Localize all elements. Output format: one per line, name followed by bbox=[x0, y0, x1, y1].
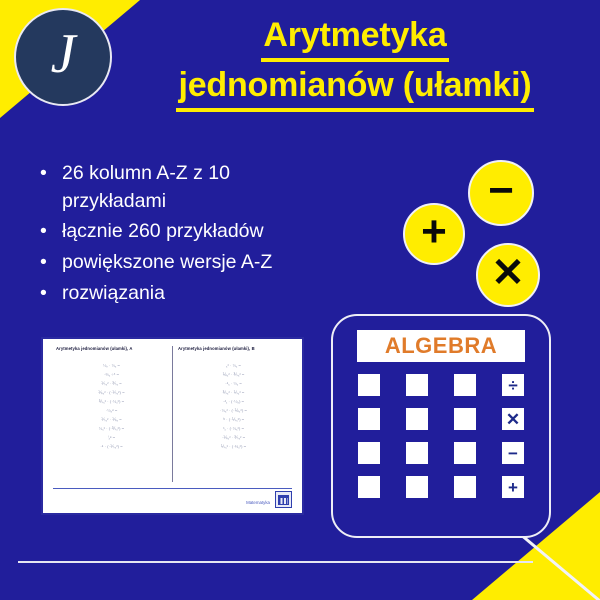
worksheet-line: ⅓ₓ³ · (·⅗ₐ²) = bbox=[56, 425, 167, 434]
list-item-label: rozwiązania bbox=[62, 282, 165, 304]
worksheet-line: ·½ₓ⁴ = bbox=[56, 407, 167, 416]
worksheet-line: ⁱₓ⁴ = bbox=[56, 434, 167, 443]
calculator-key-blank bbox=[454, 408, 476, 430]
page-title: Arytmetyka jednomianów (ułamki) bbox=[120, 14, 590, 112]
calculator-icon bbox=[275, 491, 292, 508]
feature-list: • 26 kolumn A-Z z 10 przykładami • łączn… bbox=[34, 160, 334, 310]
worksheet-line: ⁶ₐ · (·⅓ₓ³) = bbox=[178, 425, 289, 434]
list-item-label: łącznie 260 przykładów bbox=[62, 220, 264, 242]
bottom-horizontal-rule bbox=[18, 561, 533, 563]
multiply-icon: ✕ bbox=[476, 243, 540, 307]
calculator-illustration: ALGEBRA ÷ ✕ − + bbox=[331, 314, 551, 538]
list-item-label: 26 kolumn A-Z z 10 przykładami bbox=[62, 162, 230, 212]
worksheet-column-a: Arytmetyka jednomianów (ułamki), A ½ₑ · … bbox=[51, 346, 172, 482]
worksheet-column-b: Arytmetyka jednomianów (ułamki), B ₓ³ · … bbox=[172, 346, 294, 482]
worksheet-line: ⅕ₐ² · ⅙ₓ = bbox=[56, 416, 167, 425]
worksheet-line: ₓ³ · ⅓ₐ = bbox=[178, 362, 289, 371]
calculator-key-blank bbox=[454, 442, 476, 464]
worksheet-line: ·⅙ₐ³ · ⅗ₓ² = bbox=[178, 434, 289, 443]
calculator-key-minus: − bbox=[502, 442, 524, 464]
calculator-key-divide: ÷ bbox=[502, 374, 524, 396]
plus-icon: + bbox=[403, 203, 465, 265]
page-title-line-2: jednomianów (ułamki) bbox=[176, 64, 533, 112]
worksheet-line: ⅗ₓ² · ⅕ₐ³ = bbox=[178, 389, 289, 398]
list-item: • rozwiązania bbox=[34, 280, 334, 308]
worksheet-line: ·⁴ · (·⅕ₓ³) = bbox=[56, 443, 167, 452]
bullet-marker-icon: • bbox=[40, 249, 47, 277]
bullet-marker-icon: • bbox=[40, 160, 47, 188]
calculator-display-text: ALGEBRA bbox=[385, 333, 497, 359]
brand-logo-letter: J bbox=[51, 26, 76, 88]
calculator-key-blank bbox=[358, 408, 380, 430]
worksheet-preview: Arytmetyka jednomianów (ułamki), A ½ₑ · … bbox=[41, 337, 304, 515]
calculator-key-blank bbox=[454, 374, 476, 396]
bullet-marker-icon: • bbox=[40, 218, 47, 246]
brand-logo-badge: J bbox=[14, 8, 112, 106]
calculator-key-blank bbox=[358, 442, 380, 464]
calculator-key-blank bbox=[406, 442, 428, 464]
calculator-key-blank bbox=[358, 374, 380, 396]
worksheet-column-a-lines: ½ₑ · ⅓ₓ = ·⅔ₐ ÷⁵ = ⅕ₓ² · ⅗ₐ = ⅙ₓ³ · (·⅕ₐ… bbox=[56, 362, 167, 452]
poster-canvas: J Arytmetyka jednomianów (ułamki) • 26 k… bbox=[0, 0, 600, 600]
worksheet-line: ·⁴ₐ · (·½ₓ) = bbox=[178, 398, 289, 407]
calculator-icon-body bbox=[278, 495, 289, 505]
worksheet-line: ⅙ₓ³ · (·⅕ₐ²) = bbox=[56, 389, 167, 398]
minus-icon: − bbox=[468, 160, 534, 226]
calculator-key-blank bbox=[406, 476, 428, 498]
worksheet-line: ·⁴ₓ · ½ₐ = bbox=[178, 380, 289, 389]
calculator-display: ALGEBRA bbox=[357, 330, 525, 362]
calculator-key-blank bbox=[358, 476, 380, 498]
bullet-marker-icon: • bbox=[40, 280, 47, 308]
plus-glyph: + bbox=[421, 210, 447, 254]
worksheet-footer-label: Matematyka bbox=[246, 500, 270, 508]
calculator-key-plus: + bbox=[502, 476, 524, 498]
list-item: • 26 kolumn A-Z z 10 przykładami bbox=[34, 160, 334, 215]
list-item-label: powiększone wersje A-Z bbox=[62, 251, 272, 273]
worksheet-columns: Arytmetyka jednomianów (ułamki), A ½ₑ · … bbox=[51, 346, 294, 482]
worksheet-column-a-heading: Arytmetyka jednomianów (ułamki), A bbox=[56, 346, 167, 351]
multiply-glyph: ✕ bbox=[491, 253, 525, 293]
list-item: • łącznie 260 przykładów bbox=[34, 218, 334, 246]
worksheet-line: ·⅓ₓ² · (·⅙ₐ³) = bbox=[178, 407, 289, 416]
calculator-key-blank bbox=[454, 476, 476, 498]
worksheet-line: ½ₑ · ⅓ₓ = bbox=[56, 362, 167, 371]
minus-glyph: − bbox=[488, 169, 514, 213]
worksheet-footer-rule bbox=[53, 488, 292, 489]
worksheet-line: ·⅔ₐ ÷⁵ = bbox=[56, 371, 167, 380]
calculator-key-blank bbox=[406, 374, 428, 396]
worksheet-line: ⅙ₐ² · ⅗ₓ³ = bbox=[178, 371, 289, 380]
worksheet-column-b-lines: ₓ³ · ⅓ₐ = ⅙ₐ² · ⅗ₓ³ = ·⁴ₓ · ½ₐ = ⅗ₓ² · ⅕… bbox=[178, 362, 289, 452]
worksheet-column-b-heading: Arytmetyka jednomianów (ułamki), B bbox=[178, 346, 289, 351]
list-item: • powiększone wersje A-Z bbox=[34, 249, 334, 277]
page-title-line-1: Arytmetyka bbox=[261, 14, 448, 62]
worksheet-line: ⁱ³ · (·⅕ₓ²) = bbox=[178, 416, 289, 425]
worksheet-footer: Matematyka bbox=[51, 491, 294, 508]
calculator-key-multiply: ✕ bbox=[502, 408, 524, 430]
worksheet-line: ⅗ₓ² · (·⅓ₐ³) = bbox=[56, 398, 167, 407]
worksheet-line: ⅕ₓ² · ⅗ₐ = bbox=[56, 380, 167, 389]
calculator-keypad: ÷ ✕ − + bbox=[349, 374, 533, 498]
worksheet-line: ⅕ₓ³ · (·⅔ₐ²) = bbox=[178, 443, 289, 452]
calculator-key-blank bbox=[406, 408, 428, 430]
